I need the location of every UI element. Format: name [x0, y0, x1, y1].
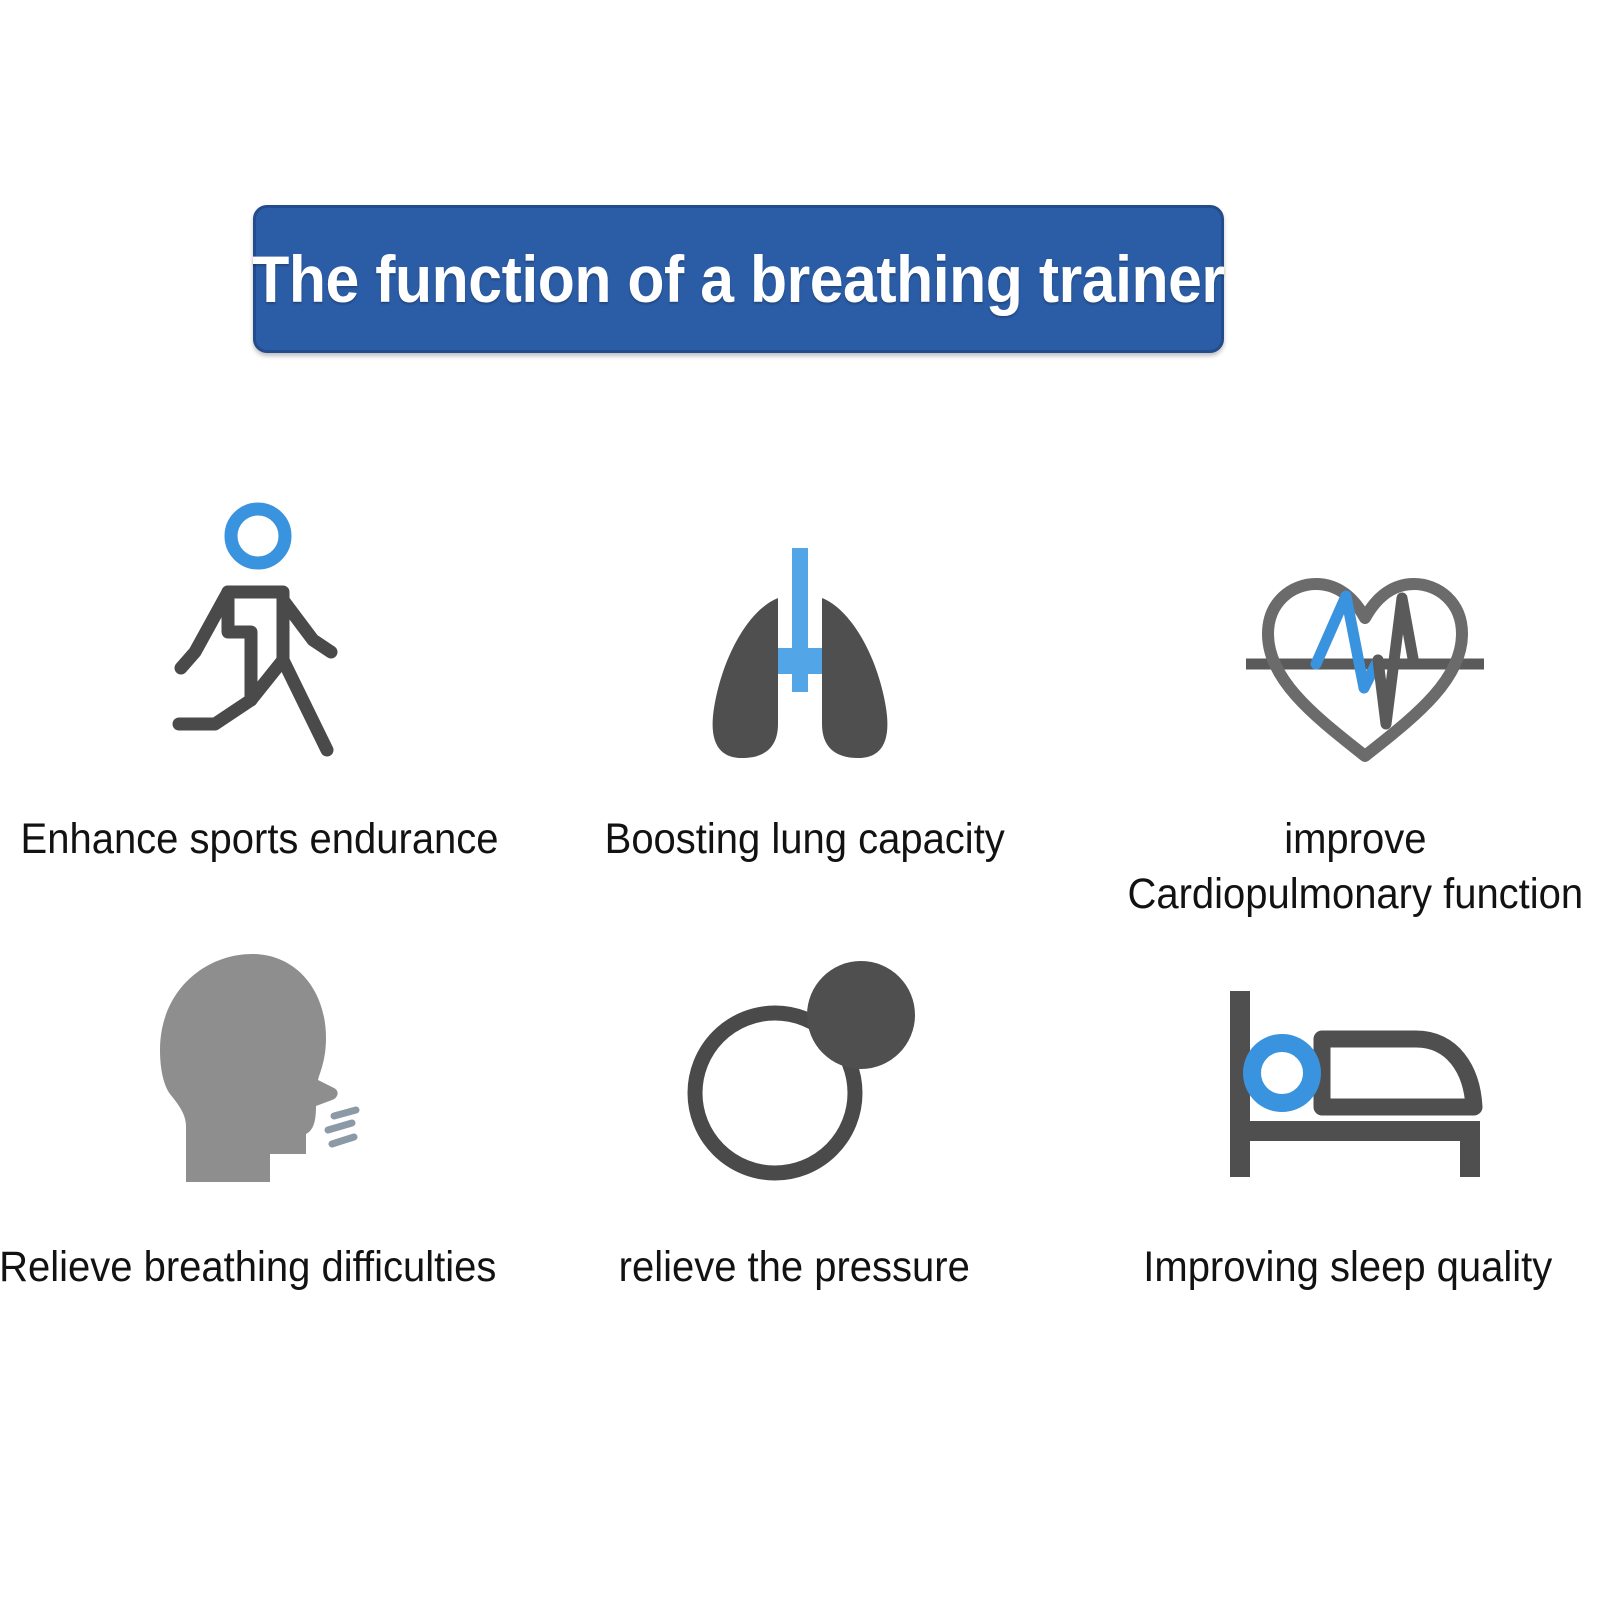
feature-row-2: Relieve breathing difficulties relieve t… — [0, 925, 1600, 1295]
caption-line-1: Boosting lung capacity — [605, 815, 1005, 863]
feature-caption: Enhance sports endurance — [20, 812, 498, 867]
caption-line-2: Cardiopulmonary function — [1127, 867, 1583, 922]
caption-line-1: Enhance sports endurance — [20, 815, 498, 863]
caption-line-1: improve — [1284, 815, 1426, 863]
feature-item-endurance: Enhance sports endurance — [0, 470, 533, 925]
feature-grid: Enhance sports endurance Boosting lung c… — [0, 470, 1600, 1295]
heart-pulse-icon — [1240, 470, 1490, 770]
feature-item-sleep-quality: Improving sleep quality — [1066, 925, 1599, 1295]
walking-person-icon — [155, 470, 355, 770]
page-title: The function of a breathing trainer — [252, 241, 1224, 317]
bed-sleep-icon — [1220, 925, 1490, 1188]
feature-item-lung-capacity: Boosting lung capacity — [533, 470, 1066, 925]
feature-item-relieve-pressure: relieve the pressure — [533, 925, 1066, 1295]
caption-line-1: relieve the pressure — [618, 1243, 969, 1291]
feature-caption: Relieve breathing difficulties — [0, 1240, 497, 1295]
feature-caption: improve Cardiopulmonary function — [1127, 812, 1583, 922]
feature-item-cardiopulmonary: improve Cardiopulmonary function — [1066, 470, 1599, 925]
title-banner: The function of a breathing trainer — [253, 205, 1224, 353]
feature-item-relieve-breathing: Relieve breathing difficulties — [0, 925, 533, 1295]
title-banner-box: The function of a breathing trainer — [253, 205, 1224, 353]
caption-line-1: Improving sleep quality — [1143, 1243, 1552, 1291]
lungs-icon — [670, 470, 930, 770]
feature-row-1: Enhance sports endurance Boosting lung c… — [0, 470, 1600, 925]
head-breathing-icon — [120, 925, 370, 1188]
feature-caption: Improving sleep quality — [1143, 1240, 1552, 1295]
pressure-circles-icon — [675, 925, 925, 1188]
feature-caption: Boosting lung capacity — [605, 812, 1005, 867]
feature-caption: relieve the pressure — [618, 1240, 969, 1295]
caption-line-1: Relieve breathing difficulties — [0, 1243, 497, 1291]
